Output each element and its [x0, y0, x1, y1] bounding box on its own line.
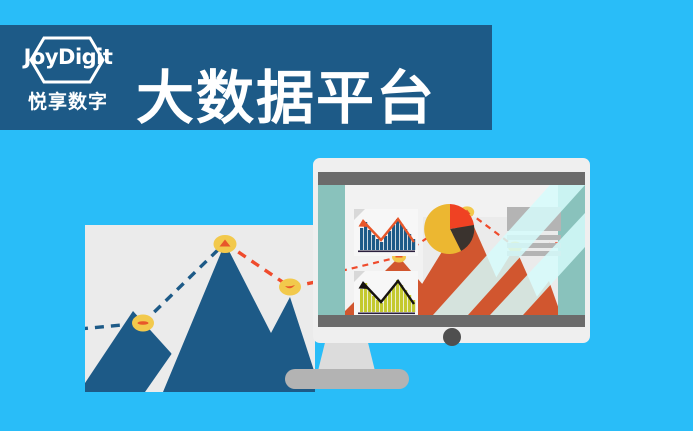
arrow-up-left-icon	[359, 281, 370, 289]
text-block-line	[507, 243, 561, 248]
bar-series-blue	[360, 219, 415, 250]
monitor-power-button[interactable]	[443, 328, 461, 346]
desktop-monitor	[313, 158, 590, 343]
bar-chart-card-olive[interactable]	[354, 271, 418, 315]
pie-chart[interactable]	[424, 203, 480, 259]
page-title: 大数据平台	[136, 69, 436, 127]
text-block-line	[507, 251, 561, 256]
header-banner: JoyDigit 悦享数字 大数据平台	[0, 25, 492, 130]
screen-side-panel-left	[318, 185, 345, 315]
data-node-center	[138, 321, 149, 325]
logo-wordmark: JoyDigit	[12, 45, 124, 69]
text-block-line	[507, 235, 561, 240]
mountain-area-chart-blue	[85, 225, 315, 392]
bar-chart-olive-graphic	[354, 271, 418, 315]
bar-chart-blue-graphic	[354, 209, 418, 256]
monitor-screen	[318, 185, 585, 315]
screen-side-panel-right	[558, 185, 585, 315]
poster-canvas: JoyDigit 悦享数字 大数据平台	[0, 0, 693, 431]
axis-line	[358, 251, 415, 253]
arrow-up-left-icon	[359, 219, 370, 227]
pie-slice-b	[450, 204, 474, 229]
monitor-bezel-top	[318, 172, 585, 185]
monitor-bezel-bottom	[318, 315, 585, 327]
left-mountain-panel	[85, 225, 315, 392]
text-block-heading	[507, 207, 561, 231]
bar-chart-card-blue[interactable]	[354, 209, 418, 256]
pie-chart-graphic	[424, 203, 480, 259]
monitor-stand-base	[285, 369, 409, 389]
logo-chinese-name: 悦享数字	[12, 87, 124, 114]
bar-series-olive	[360, 280, 415, 312]
brand-logo: JoyDigit 悦享数字	[12, 33, 124, 121]
axis-line	[358, 313, 415, 315]
